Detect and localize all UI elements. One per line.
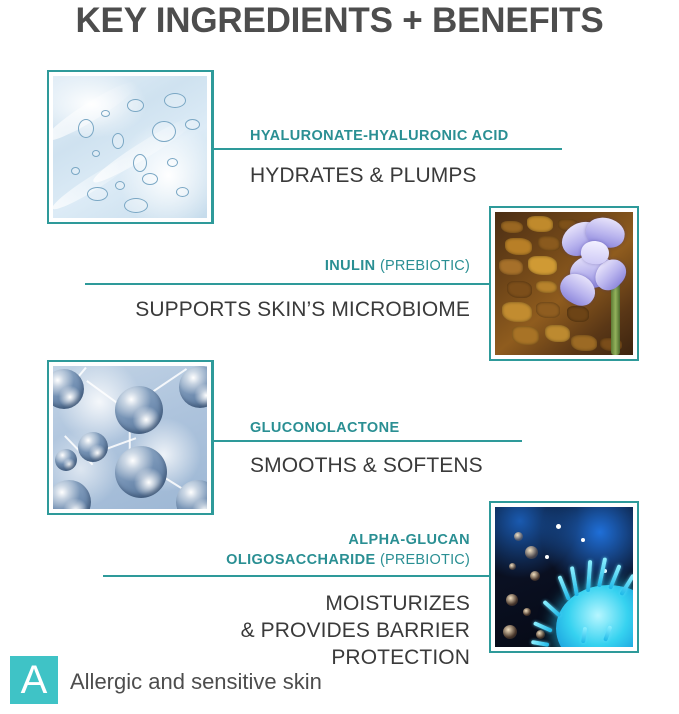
benefit-line-2: & PROVIDES BARRIER PROTECTION xyxy=(110,617,470,671)
ingredient-name-inulin: INULIN (PREBIOTIC) xyxy=(140,256,470,276)
ingredient-name-line-1: ALPHA-GLUCAN xyxy=(140,530,470,550)
microbiome-bacteria-thumbnail xyxy=(495,507,633,647)
ingredient-name-line-2: OLIGOSACCHARIDE xyxy=(226,552,375,568)
ingredient-qualifier: (PREBIOTIC) xyxy=(380,258,470,274)
ingredient-benefit-gluconolactone: SMOOTHS & SOFTENS xyxy=(250,452,610,479)
ingredient-name-hyaluronate: HYALURONATE-HYALURONIC ACID xyxy=(250,126,570,146)
benefit-line-1: MOISTURIZES xyxy=(110,590,470,617)
benefit-line-1: SUPPORTS SKIN’S MICROBIOME xyxy=(135,298,470,321)
ingredient-image-alpha-glucan xyxy=(489,501,639,653)
infographic-page: KEY INGREDIENTS + BENEFITS HYALUR xyxy=(0,0,679,714)
connector-horizontal-1 xyxy=(212,148,562,150)
ingredient-name-text: HYALURONATE-HYALURONIC ACID xyxy=(250,128,509,144)
ingredient-name-line-2-wrap: OLIGOSACCHARIDE (PREBIOTIC) xyxy=(140,550,470,570)
connector-horizontal-2 xyxy=(85,283,491,285)
molecule-structure-thumbnail xyxy=(53,366,207,509)
page-title: KEY INGREDIENTS + BENEFITS xyxy=(0,0,679,40)
water-gel-bubbles-thumbnail xyxy=(53,76,207,218)
ingredient-benefit-alpha-glucan: MOISTURIZES & PROVIDES BARRIER PROTECTIO… xyxy=(110,590,470,671)
ingredient-image-hyaluronate xyxy=(47,70,213,224)
connector-horizontal-3 xyxy=(212,440,522,442)
chicory-root-flower-thumbnail xyxy=(495,212,633,355)
allergy-badge-label: Allergic and sensitive skin xyxy=(70,668,322,696)
connector-vertical-3 xyxy=(212,360,214,515)
ingredient-name-text: GLUCONOLACTONE xyxy=(250,420,400,436)
ingredient-name-alpha-glucan: ALPHA-GLUCAN OLIGOSACCHARIDE (PREBIOTIC) xyxy=(140,530,470,570)
ingredient-benefit-inulin: SUPPORTS SKIN’S MICROBIOME xyxy=(110,296,470,323)
ingredient-benefit-hyaluronate: HYDRATES & PLUMPS xyxy=(250,162,610,189)
ingredient-image-inulin xyxy=(489,206,639,361)
benefit-line-1: SMOOTHS & SOFTENS xyxy=(250,454,483,477)
ingredient-qualifier: (PREBIOTIC) xyxy=(380,552,470,568)
allergy-badge: A xyxy=(10,656,58,704)
benefit-line-1: HYDRATES & PLUMPS xyxy=(250,164,477,187)
ingredient-name-gluconolactone: GLUCONOLACTONE xyxy=(250,418,570,438)
ingredient-image-gluconolactone xyxy=(47,360,213,515)
connector-vertical-1 xyxy=(212,70,214,224)
connector-vertical-4 xyxy=(489,501,491,653)
ingredient-name-text: INULIN xyxy=(325,258,376,274)
connector-horizontal-4 xyxy=(103,575,491,577)
